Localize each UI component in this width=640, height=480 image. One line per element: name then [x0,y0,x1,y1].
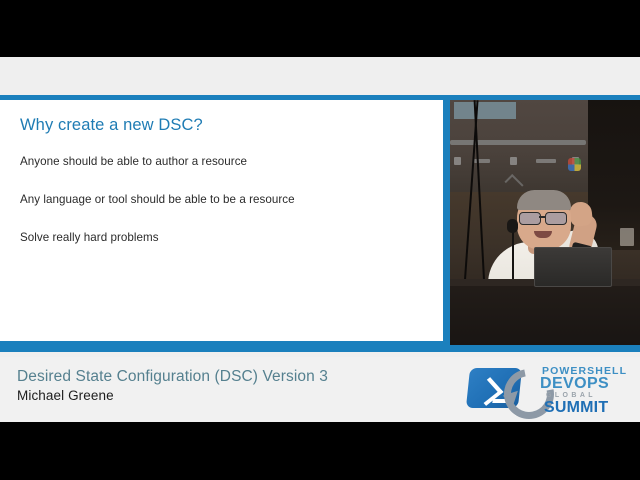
slide-heading: Why create a new DSC? [20,116,203,135]
microphone-head [507,219,518,233]
presentation-title: Desired State Configuration (DSC) Versio… [17,368,328,386]
podium [450,279,640,345]
slide-bullet-list: Anyone should be able to author a resour… [20,155,431,269]
projected-progress-bar [450,140,586,145]
powershell-devops-global-summit-logo: POWERSHELL DEVOPS GLOBAL SUMMIT [468,360,634,416]
logo-line-summit: SUMMIT [544,399,608,417]
presenter-name: Michael Greene [17,388,114,403]
slide-content-area: Why create a new DSC? Anyone should be a… [0,100,443,341]
presentation-video-frame: Why create a new DSC? Anyone should be a… [0,0,640,480]
slide-frame: Why create a new DSC? Anyone should be a… [0,95,640,352]
glasses-lens [545,212,567,225]
slide-bullet: Any language or tool should be able to b… [20,193,431,207]
letterbox-bar-bottom [0,422,640,480]
logo-wordmark: POWERSHELL DEVOPS GLOBAL SUMMIT [540,360,634,416]
projected-toolbar-icon [510,157,517,165]
projected-toolbar-text [536,159,556,163]
logo-mark [468,364,540,410]
projected-app-logo [568,158,581,171]
projected-window [454,102,516,119]
slide-bullet: Anyone should be able to author a resour… [20,155,431,169]
logo-line-global: GLOBAL [546,392,596,399]
slide-bullet: Solve really hard problems [20,231,431,245]
logo-line-devops: DEVOPS [540,375,609,393]
speaker-video-feed [450,100,640,345]
speaker-glasses [519,212,569,223]
glasses-lens [519,212,541,225]
projected-toolbar-icon [454,157,461,165]
speaker-hand [569,201,593,227]
slide-bottom-accent-rule [0,345,640,352]
laptop [534,247,612,287]
speaker-video-panel [443,95,640,352]
wall-plate [620,228,634,246]
letterbox-bar-top [0,0,640,57]
speaker-hair [517,190,571,210]
